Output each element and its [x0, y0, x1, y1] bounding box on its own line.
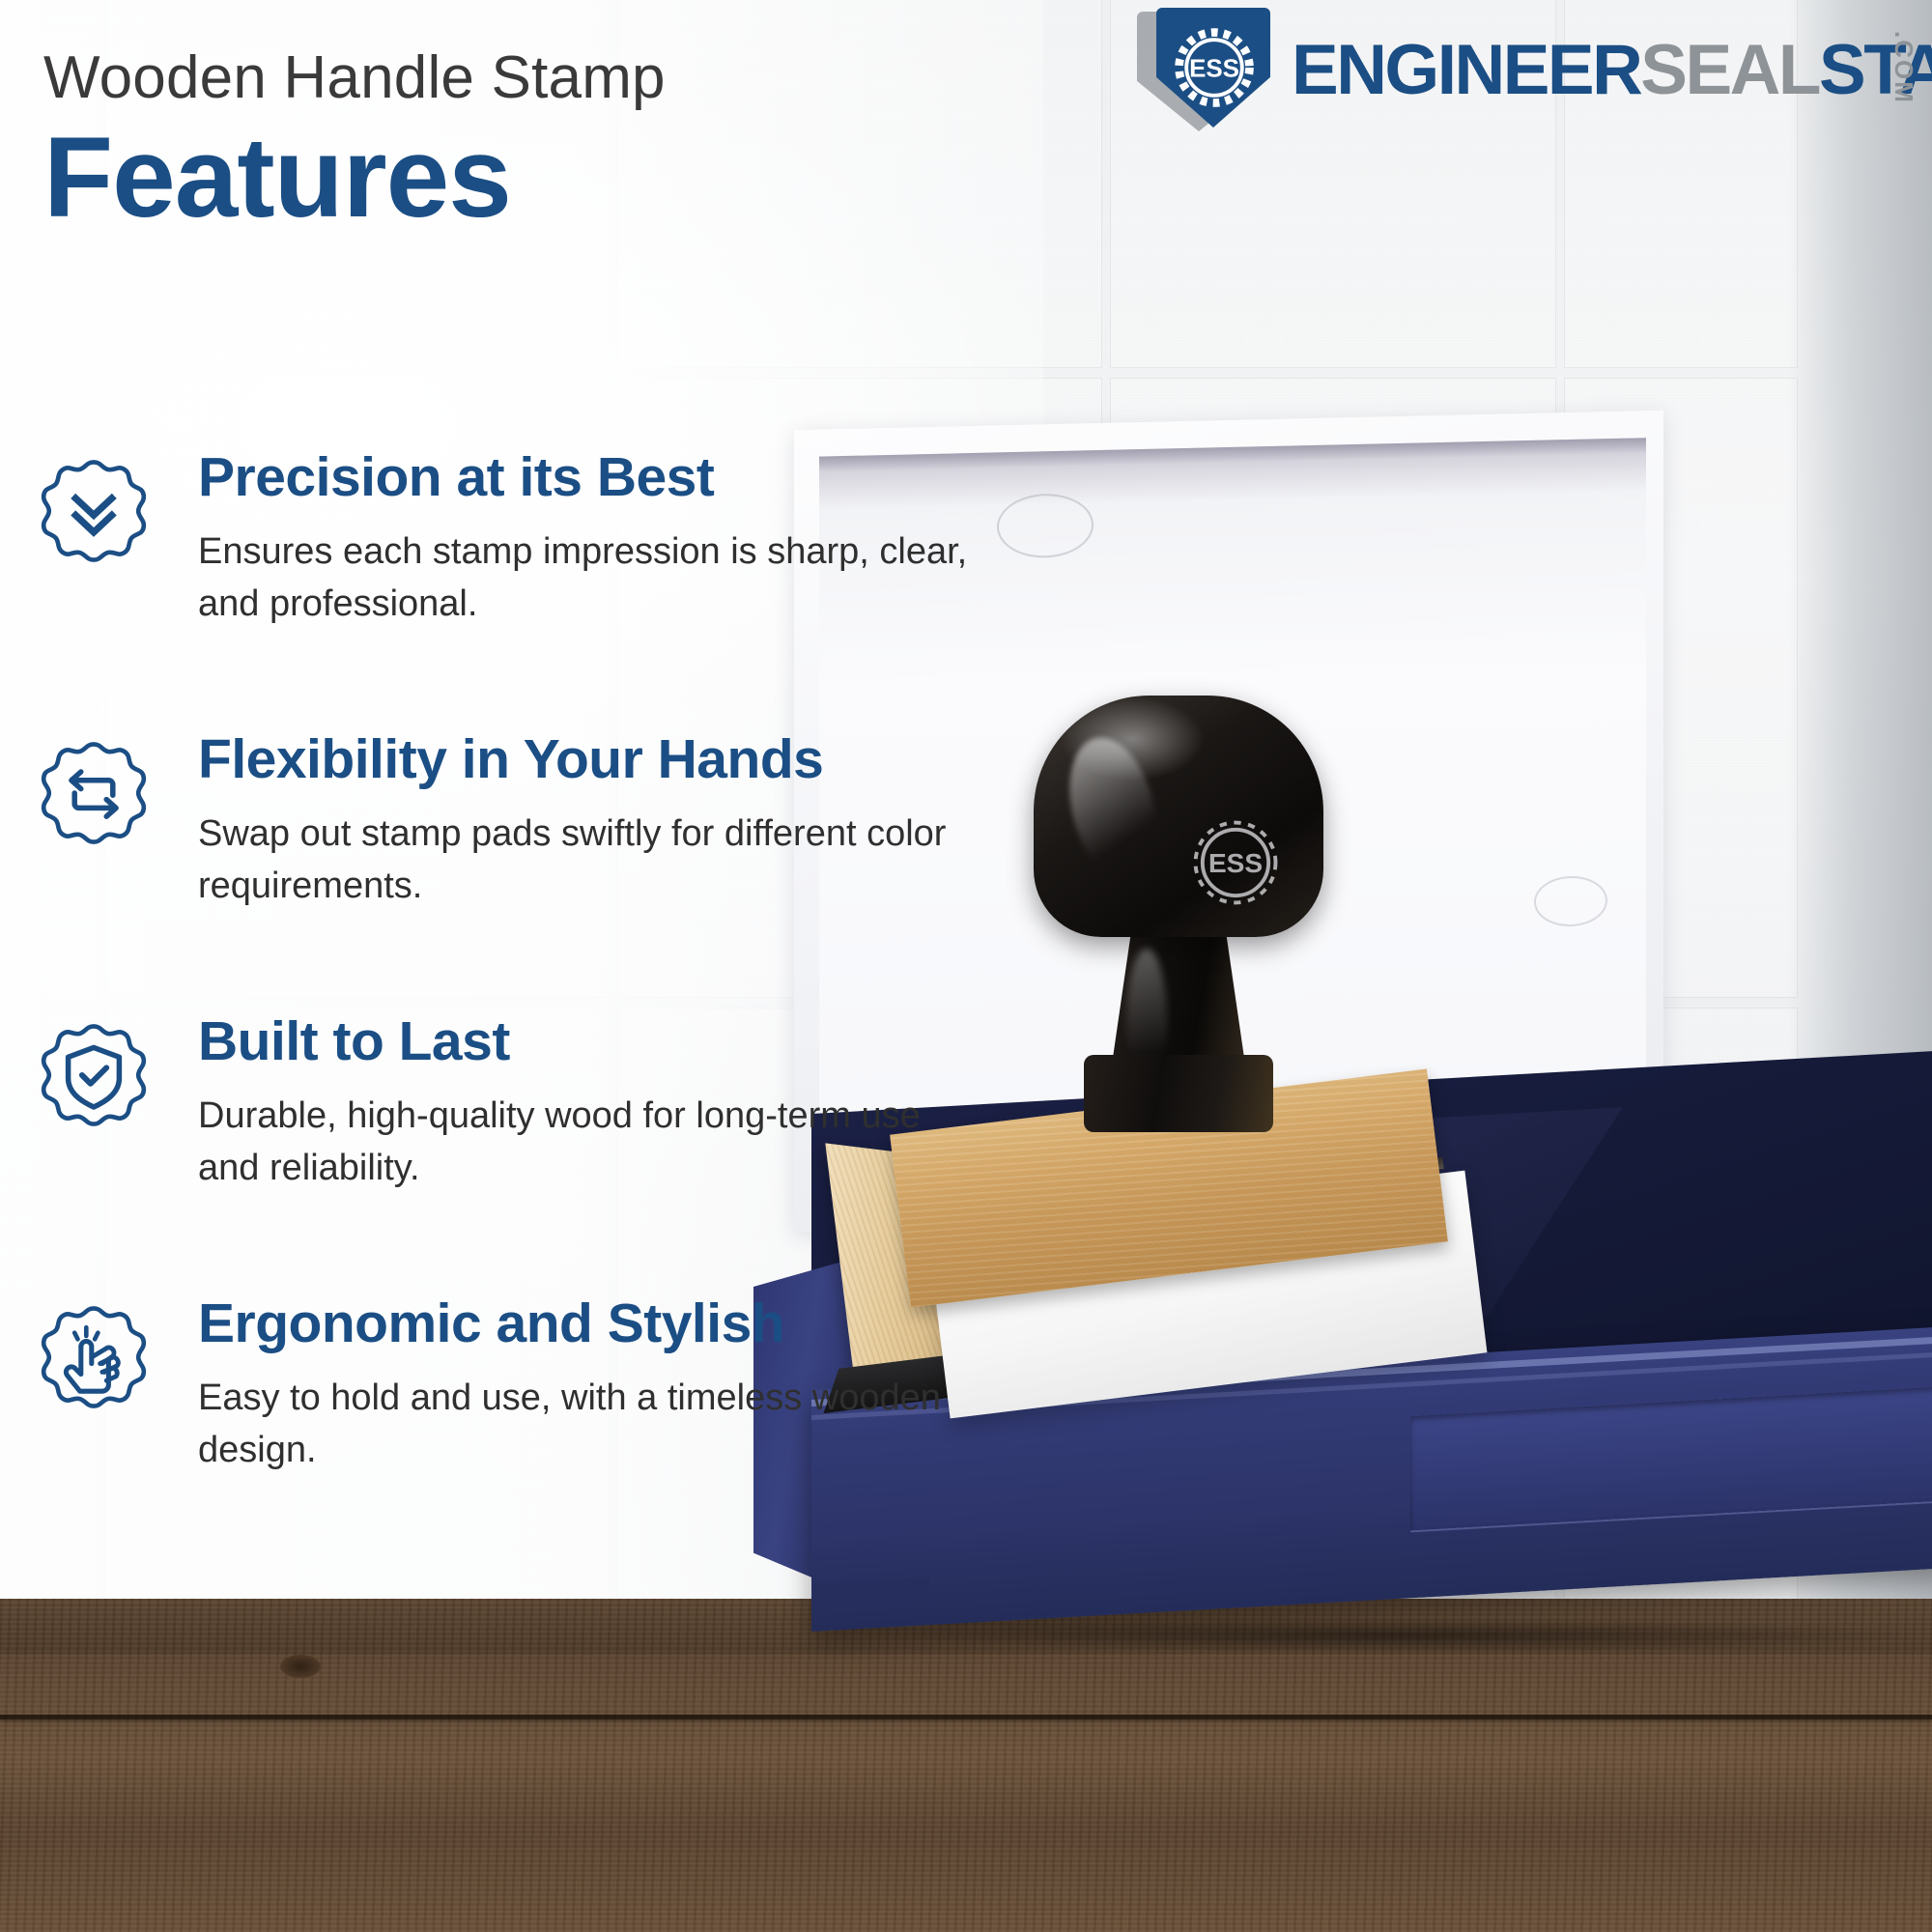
brand-mark-text: ESS: [1189, 56, 1239, 83]
feature-text: Built to Last Durable, high-quality wood…: [198, 1013, 1014, 1195]
feature-text: Flexibility in Your Hands Swap out stamp…: [198, 731, 1014, 913]
handle-ess-text: ESS: [1208, 848, 1263, 878]
page-title: Features: [43, 123, 990, 235]
feature-item: Flexibility in Your Hands Swap out stamp…: [39, 731, 1014, 1013]
page-subtitle: Wooden Handle Stamp: [43, 46, 990, 109]
handle-ess-gear-icon: ESS: [1177, 804, 1294, 922]
table-wood-knot: [280, 1655, 321, 1678]
feature-title: Flexibility in Your Hands: [198, 731, 1014, 789]
features-list: Precision at its Best Ensures each stamp…: [39, 449, 1014, 1577]
feature-title: Ergonomic and Stylish: [198, 1295, 1014, 1353]
infographic-canvas: ESS Wooden Handle Stamp Features ESS ENG…: [0, 0, 1932, 1932]
shield-check-badge-icon: [41, 1021, 147, 1129]
feature-description: Swap out stamp pads swiftly for differen…: [198, 809, 971, 913]
double-chevron-down-badge-icon: [41, 457, 147, 565]
feature-title: Precision at its Best: [198, 449, 1014, 507]
brand-shield-mark: ESS: [1145, 8, 1276, 131]
stamp-handle-highlight-lower: [1126, 949, 1167, 1094]
feature-description: Ensures each stamp impression is sharp, …: [198, 526, 971, 631]
feature-text: Precision at its Best Ensures each stamp…: [198, 449, 1014, 631]
brand-logo[interactable]: ESS ENGINEER SEAL STAMPS .COM: [1145, 8, 1918, 131]
stamp-handle: ESS: [1034, 696, 1333, 1150]
box-ground-shadow: [869, 1618, 1932, 1653]
brand-gear-icon: ESS: [1168, 21, 1261, 114]
feature-item: Ergonomic and Stylish Easy to hold and u…: [39, 1295, 1014, 1577]
swap-arrows-badge-icon: [41, 739, 147, 847]
stamp-handle-base: [1084, 1055, 1273, 1132]
feature-text: Ergonomic and Stylish Easy to hold and u…: [198, 1295, 1014, 1477]
feature-description: Durable, high-quality wood for long-term…: [198, 1091, 971, 1195]
brand-wordmark: ENGINEER SEAL STAMPS: [1292, 29, 1932, 110]
feature-title: Built to Last: [198, 1013, 1014, 1071]
brand-word-engineer: ENGINEER: [1292, 35, 1640, 105]
feature-description: Easy to hold and use, with a timeless wo…: [198, 1373, 971, 1477]
table-plank-seam: [0, 1715, 1932, 1719]
tap-hand-badge-icon: [41, 1303, 147, 1411]
brand-word-seal: SEAL: [1640, 35, 1819, 105]
feature-item: Built to Last Durable, high-quality wood…: [39, 1013, 1014, 1295]
brand-tld: .COM: [1889, 31, 1918, 104]
page-header: Wooden Handle Stamp Features: [43, 46, 990, 235]
feature-item: Precision at its Best Ensures each stamp…: [39, 449, 1014, 731]
